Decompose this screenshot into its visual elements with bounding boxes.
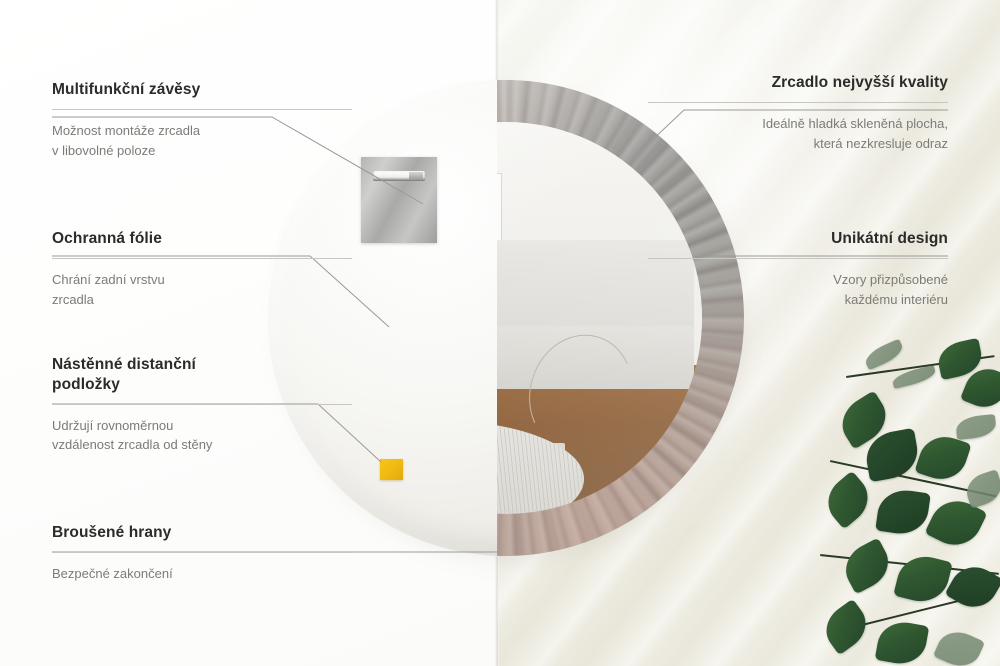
leaf <box>893 551 953 608</box>
callout-title: Unikátní design <box>648 229 948 249</box>
callout-title: Multifunkční závěsy <box>52 80 352 100</box>
callout-rule <box>52 552 352 553</box>
callout-body: Ideálně hladká skleněná plocha, která ne… <box>648 114 948 154</box>
callout-title: Broušené hrany <box>52 523 352 543</box>
callout-brousene-hrany: Broušené hrany Bezpečné zakončení <box>52 523 352 584</box>
callout-title: Zrcadlo nejvyšší kvality <box>648 73 948 93</box>
leaf <box>817 599 875 656</box>
callout-multifunkcni-zavesy: Multifunkční závěsy Možnost montáže zrca… <box>52 80 352 160</box>
callout-title: Nástěnné distanční podložky <box>52 355 352 395</box>
callout-body-line: zrcadla <box>52 290 352 310</box>
leaf <box>862 339 905 371</box>
mounting-bracket <box>361 157 437 243</box>
callout-body-line: Vzory přizpůsobené <box>648 270 948 290</box>
callout-ochranna-folie: Ochranná fólie Chrání zadní vrstvu zrcad… <box>52 229 352 309</box>
callout-title-line: podložky <box>52 375 352 395</box>
callout-body-line: každému interiéru <box>648 290 948 310</box>
callout-title-line: Nástěnné distanční <box>52 355 352 375</box>
callout-unikatni-design: Unikátní design Vzory přizpůsobené každé… <box>648 229 948 309</box>
callout-body: Udržují rovnoměrnou vzdálenost zrcadla o… <box>52 416 352 456</box>
callout-rule <box>52 404 352 405</box>
leaf <box>933 625 985 666</box>
callout-zrcadlo-nejvyssi-kvality: Zrcadlo nejvyšší kvality Ideálně hladká … <box>648 73 948 153</box>
leaf <box>875 618 930 666</box>
callout-body: Bezpečné zakončení <box>52 564 352 584</box>
callout-body-line: Chrání zadní vrstvu <box>52 270 352 290</box>
leaf <box>944 558 1000 616</box>
callout-nastenne-distancni-podlozky: Nástěnné distanční podložky Udržují rovn… <box>52 355 352 455</box>
leaf <box>818 471 877 530</box>
mirror-glass-reflection <box>497 122 702 514</box>
eucalyptus-foliage <box>820 340 1000 666</box>
callout-title: Ochranná fólie <box>52 229 352 249</box>
callout-rule <box>52 109 352 110</box>
callout-rule <box>648 258 948 259</box>
callout-body: Možnost montáže zrcadla v libovolné polo… <box>52 121 352 161</box>
leaf <box>955 414 997 440</box>
callout-body: Vzory přizpůsobené každému interiéru <box>648 270 948 310</box>
callout-body-line: Možnost montáže zrcadla <box>52 121 352 141</box>
wall-spacer-pad <box>380 459 403 480</box>
bracket-keyhole-slot <box>373 171 425 181</box>
callout-body-line: vzdálenost zrcadla od stěny <box>52 435 352 455</box>
callout-rule <box>52 258 352 259</box>
leaf <box>875 487 931 538</box>
callout-body: Chrání zadní vrstvu zrcadla <box>52 270 352 310</box>
callout-body-line: která nezkresluje odraz <box>648 134 948 154</box>
callout-body-line: Bezpečné zakončení <box>52 564 352 584</box>
callout-body-line: Udržují rovnoměrnou <box>52 416 352 436</box>
glass-sheen <box>497 122 702 514</box>
callout-rule <box>648 102 948 103</box>
infographic-canvas: Multifunkční závěsy Možnost montáže zrca… <box>0 0 1000 666</box>
leaf <box>837 538 896 595</box>
callout-body-line: v libovolné poloze <box>52 141 352 161</box>
callout-body-line: Ideálně hladká skleněná plocha, <box>648 114 948 134</box>
